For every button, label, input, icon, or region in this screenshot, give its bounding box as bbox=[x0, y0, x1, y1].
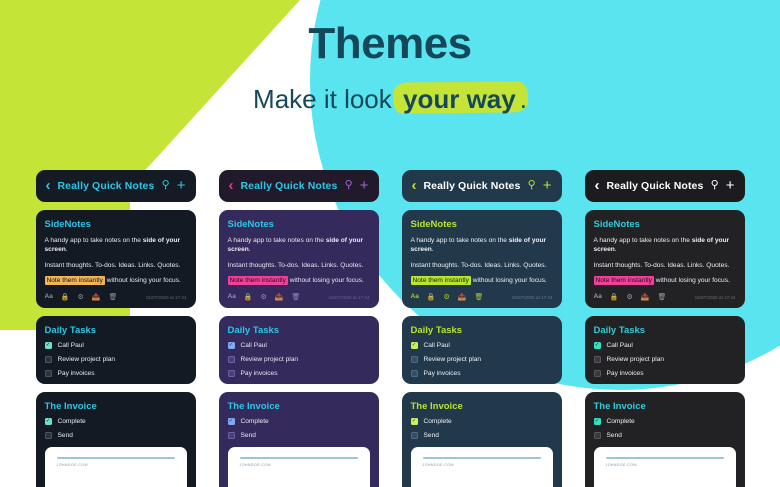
gear-icon[interactable]: ⚙ bbox=[444, 294, 450, 301]
lock-icon[interactable]: 🔒 bbox=[427, 294, 436, 301]
page-title: Themes bbox=[0, 22, 780, 66]
invoice-card-heading: The Invoice bbox=[594, 401, 736, 412]
gear-icon[interactable]: ⚙ bbox=[78, 294, 84, 301]
form-rule bbox=[240, 457, 358, 459]
chevron-left-icon[interactable]: ‹ bbox=[595, 178, 600, 193]
invoice-card-list: ✓CompleteSend bbox=[594, 418, 736, 439]
lock-icon[interactable]: 🔒 bbox=[61, 294, 70, 301]
form-rule bbox=[57, 457, 175, 459]
checklist-item-label: Complete bbox=[241, 418, 269, 425]
note-line-2: Instant thoughts. To-dos. Ideas. Links. … bbox=[45, 261, 187, 271]
note-timestamp: 15/07/2020 at 17:44 bbox=[329, 295, 370, 300]
checklist-item[interactable]: Send bbox=[594, 432, 736, 439]
checklist-item[interactable]: Pay invoices bbox=[594, 370, 736, 377]
chevron-left-icon[interactable]: ‹ bbox=[412, 178, 417, 193]
note-line-1: A handy app to take notes on the side of… bbox=[45, 236, 187, 255]
checkbox-checked-icon[interactable]: ✓ bbox=[228, 418, 235, 425]
note-timestamp: 15/07/2020 at 17:44 bbox=[695, 295, 736, 300]
checklist-item-label: Call Paul bbox=[58, 342, 84, 349]
plus-icon[interactable]: + bbox=[360, 178, 369, 193]
app-title: Really Quick Notes bbox=[58, 180, 155, 192]
search-icon[interactable]: ⚲ bbox=[528, 180, 536, 191]
checkbox-icon[interactable] bbox=[45, 356, 52, 363]
theme-mockup-charcoal-teal: ‹Really Quick Notes⚲+SideNotesA handy ap… bbox=[585, 170, 745, 487]
checklist-item[interactable]: Send bbox=[45, 432, 187, 439]
app-title: Really Quick Notes bbox=[607, 180, 704, 192]
checklist-item[interactable]: Review project plan bbox=[594, 356, 736, 363]
gear-icon[interactable]: ⚙ bbox=[261, 294, 267, 301]
note-highlight: Note them instantly bbox=[411, 276, 471, 285]
app-topbar: ‹Really Quick Notes⚲+ bbox=[219, 170, 379, 202]
checklist-item-label: Pay invoices bbox=[607, 370, 644, 377]
plus-icon[interactable]: + bbox=[726, 178, 735, 193]
invoice-form-preview[interactable]: JOHNDOE.COM bbox=[228, 447, 370, 487]
tasks-card[interactable]: Daily Tasks✓Call PaulReview project plan… bbox=[36, 316, 196, 384]
checkbox-icon[interactable] bbox=[411, 370, 418, 377]
invoice-card[interactable]: The Invoice✓CompleteSendJOHNDOE.COM bbox=[36, 392, 196, 487]
note-card-heading: SideNotes bbox=[228, 219, 370, 230]
checklist-item-label: Call Paul bbox=[607, 342, 633, 349]
note-line-1: A handy app to take notes on the side of… bbox=[594, 236, 736, 255]
invoice-card[interactable]: The Invoice✓CompleteSendJOHNDOE.COM bbox=[585, 392, 745, 487]
invoice-card-list: ✓CompleteSend bbox=[411, 418, 553, 439]
tasks-card-list: ✓Call PaulReview project planPay invoice… bbox=[45, 342, 187, 377]
theme-mockup-grid: ‹Really Quick Notes⚲+SideNotesA handy ap… bbox=[0, 170, 780, 487]
subtitle-plain: Make it look bbox=[253, 84, 399, 114]
checklist-item-label: Send bbox=[241, 432, 256, 439]
note-toolbar: Aa🔒⚙📤🗑15/07/2020 at 17:44 bbox=[45, 294, 187, 301]
checklist-item[interactable]: ✓Complete bbox=[45, 418, 187, 425]
note-line-2: Instant thoughts. To-dos. Ideas. Links. … bbox=[594, 261, 736, 271]
share-icon[interactable]: 📤 bbox=[275, 294, 284, 301]
checklist-item-label: Send bbox=[607, 432, 622, 439]
note-line-2: Instant thoughts. To-dos. Ideas. Links. … bbox=[411, 261, 553, 271]
lock-icon[interactable]: 🔒 bbox=[244, 294, 253, 301]
checklist-item-label: Review project plan bbox=[241, 356, 299, 363]
checkbox-icon[interactable] bbox=[411, 432, 418, 439]
tasks-card-heading: Daily Tasks bbox=[594, 325, 736, 336]
checkbox-icon[interactable] bbox=[228, 370, 235, 377]
note-card[interactable]: SideNotesA handy app to take notes on th… bbox=[219, 210, 379, 308]
checklist-item[interactable]: ✓Complete bbox=[411, 418, 553, 425]
invoice-card[interactable]: The Invoice✓CompleteSendJOHNDOE.COM bbox=[402, 392, 562, 487]
note-timestamp: 15/07/2020 at 17:44 bbox=[512, 295, 553, 300]
checkbox-checked-icon[interactable]: ✓ bbox=[594, 342, 601, 349]
checklist-item[interactable]: Pay invoices bbox=[45, 370, 187, 377]
checklist-item[interactable]: Send bbox=[228, 432, 370, 439]
trash-icon[interactable]: 🗑 bbox=[658, 294, 667, 301]
invoice-card[interactable]: The Invoice✓CompleteSendJOHNDOE.COM bbox=[219, 392, 379, 487]
note-card[interactable]: SideNotesA handy app to take notes on th… bbox=[36, 210, 196, 308]
text-format-icon[interactable]: Aa bbox=[228, 294, 236, 301]
checkbox-checked-icon[interactable]: ✓ bbox=[411, 342, 418, 349]
checklist-item-label: Complete bbox=[607, 418, 635, 425]
form-rule bbox=[423, 457, 541, 459]
poster-stage: Themes Make it look your way. ‹Really Qu… bbox=[0, 0, 780, 487]
note-toolbar: Aa🔒⚙📤🗑15/07/2020 at 17:44 bbox=[411, 294, 553, 301]
text-format-icon[interactable]: Aa bbox=[45, 294, 53, 301]
tasks-card-heading: Daily Tasks bbox=[228, 325, 370, 336]
subtitle-highlight: your way bbox=[399, 84, 520, 114]
gear-icon[interactable]: ⚙ bbox=[627, 294, 633, 301]
note-card-heading: SideNotes bbox=[411, 219, 553, 230]
invoice-card-list: ✓CompleteSend bbox=[45, 418, 187, 439]
checkbox-icon[interactable] bbox=[45, 370, 52, 377]
trash-icon[interactable]: 🗑 bbox=[109, 294, 118, 301]
headline-block: Themes Make it look your way. bbox=[0, 22, 780, 115]
checklist-item-label: Review project plan bbox=[58, 356, 116, 363]
checklist-item[interactable]: ✓Call Paul bbox=[228, 342, 370, 349]
form-domain-text: JOHNDOE.COM bbox=[423, 463, 541, 467]
checklist-item-label: Pay invoices bbox=[58, 370, 95, 377]
chevron-left-icon[interactable]: ‹ bbox=[229, 178, 234, 193]
note-toolbar: Aa🔒⚙📤🗑15/07/2020 at 17:44 bbox=[594, 294, 736, 301]
checklist-item-label: Pay invoices bbox=[241, 370, 278, 377]
checkbox-icon[interactable] bbox=[594, 356, 601, 363]
trash-icon[interactable]: 🗑 bbox=[475, 294, 484, 301]
invoice-form-preview[interactable]: JOHNDOE.COM bbox=[45, 447, 187, 487]
note-highlight: Note them instantly bbox=[594, 276, 654, 285]
checkbox-icon[interactable] bbox=[411, 356, 418, 363]
share-icon[interactable]: 📤 bbox=[641, 294, 650, 301]
app-topbar: ‹Really Quick Notes⚲+ bbox=[36, 170, 196, 202]
invoice-card-heading: The Invoice bbox=[411, 401, 553, 412]
checklist-item-label: Call Paul bbox=[241, 342, 267, 349]
checklist-item-label: Review project plan bbox=[607, 356, 665, 363]
page-subtitle: Make it look your way. bbox=[253, 84, 527, 115]
search-icon[interactable]: ⚲ bbox=[345, 180, 353, 191]
checkbox-icon[interactable] bbox=[594, 370, 601, 377]
note-line-3: Note them instantly without losing your … bbox=[228, 276, 370, 286]
search-icon[interactable]: ⚲ bbox=[711, 180, 719, 191]
checklist-item[interactable]: Review project plan bbox=[45, 356, 187, 363]
checklist-item[interactable]: Review project plan bbox=[411, 356, 553, 363]
checklist-item[interactable]: Review project plan bbox=[228, 356, 370, 363]
chevron-left-icon[interactable]: ‹ bbox=[46, 178, 51, 193]
checklist-item[interactable]: ✓Call Paul bbox=[411, 342, 553, 349]
theme-mockup-midnight-cyan: ‹Really Quick Notes⚲+SideNotesA handy ap… bbox=[36, 170, 196, 487]
text-format-icon[interactable]: Aa bbox=[411, 294, 419, 301]
checklist-item[interactable]: Pay invoices bbox=[228, 370, 370, 377]
tasks-card-heading: Daily Tasks bbox=[45, 325, 187, 336]
checkbox-icon[interactable] bbox=[228, 432, 235, 439]
subtitle-dot: . bbox=[520, 84, 527, 114]
note-card[interactable]: SideNotesA handy app to take notes on th… bbox=[585, 210, 745, 308]
share-icon[interactable]: 📤 bbox=[458, 294, 467, 301]
checkbox-checked-icon[interactable]: ✓ bbox=[45, 342, 52, 349]
theme-mockup-navy-lime: ‹Really Quick Notes⚲+SideNotesA handy ap… bbox=[402, 170, 562, 487]
checklist-item[interactable]: Send bbox=[411, 432, 553, 439]
note-line-2: Instant thoughts. To-dos. Ideas. Links. … bbox=[228, 261, 370, 271]
form-domain-text: JOHNDOE.COM bbox=[57, 463, 175, 467]
plus-icon[interactable]: + bbox=[543, 178, 552, 193]
checkbox-icon[interactable] bbox=[228, 356, 235, 363]
checkbox-checked-icon[interactable]: ✓ bbox=[594, 418, 601, 425]
invoice-form-preview[interactable]: JOHNDOE.COM bbox=[594, 447, 736, 487]
note-line-1: A handy app to take notes on the side of… bbox=[411, 236, 553, 255]
note-highlight: Note them instantly bbox=[45, 276, 105, 285]
tasks-card-list: ✓Call PaulReview project planPay invoice… bbox=[411, 342, 553, 377]
note-timestamp: 15/07/2020 at 17:44 bbox=[146, 295, 187, 300]
checklist-item-label: Send bbox=[58, 432, 73, 439]
checklist-item-label: Complete bbox=[424, 418, 452, 425]
note-card-heading: SideNotes bbox=[45, 219, 187, 230]
note-line-3: Note them instantly without losing your … bbox=[45, 276, 187, 286]
checklist-item-label: Call Paul bbox=[424, 342, 450, 349]
checklist-item[interactable]: ✓Complete bbox=[594, 418, 736, 425]
tasks-card[interactable]: Daily Tasks✓Call PaulReview project plan… bbox=[402, 316, 562, 384]
checkbox-icon[interactable] bbox=[594, 432, 601, 439]
search-icon[interactable]: ⚲ bbox=[162, 180, 170, 191]
checklist-item-label: Complete bbox=[58, 418, 86, 425]
checkbox-checked-icon[interactable]: ✓ bbox=[228, 342, 235, 349]
form-rule bbox=[606, 457, 724, 459]
note-card-heading: SideNotes bbox=[594, 219, 736, 230]
theme-mockup-deep-purple: ‹Really Quick Notes⚲+SideNotesA handy ap… bbox=[219, 170, 379, 487]
checklist-item[interactable]: Pay invoices bbox=[411, 370, 553, 377]
checklist-item[interactable]: ✓Complete bbox=[228, 418, 370, 425]
form-domain-text: JOHNDOE.COM bbox=[606, 463, 724, 467]
app-title: Really Quick Notes bbox=[424, 180, 521, 192]
plus-icon[interactable]: + bbox=[177, 178, 186, 193]
checkbox-checked-icon[interactable]: ✓ bbox=[411, 418, 418, 425]
tasks-card-list: ✓Call PaulReview project planPay invoice… bbox=[594, 342, 736, 377]
note-line-1: A handy app to take notes on the side of… bbox=[228, 236, 370, 255]
checklist-item-label: Send bbox=[424, 432, 439, 439]
checklist-item-label: Review project plan bbox=[424, 356, 482, 363]
app-topbar: ‹Really Quick Notes⚲+ bbox=[585, 170, 745, 202]
checklist-item[interactable]: ✓Call Paul bbox=[45, 342, 187, 349]
app-topbar: ‹Really Quick Notes⚲+ bbox=[402, 170, 562, 202]
note-line-3: Note them instantly without losing your … bbox=[594, 276, 736, 286]
tasks-card-list: ✓Call PaulReview project planPay invoice… bbox=[228, 342, 370, 377]
note-highlight: Note them instantly bbox=[228, 276, 288, 285]
share-icon[interactable]: 📤 bbox=[92, 294, 101, 301]
invoice-card-list: ✓CompleteSend bbox=[228, 418, 370, 439]
trash-icon[interactable]: 🗑 bbox=[292, 294, 301, 301]
app-title: Really Quick Notes bbox=[241, 180, 338, 192]
form-domain-text: JOHNDOE.COM bbox=[240, 463, 358, 467]
invoice-card-heading: The Invoice bbox=[228, 401, 370, 412]
note-toolbar: Aa🔒⚙📤🗑15/07/2020 at 17:44 bbox=[228, 294, 370, 301]
text-format-icon[interactable]: Aa bbox=[594, 294, 602, 301]
tasks-card-heading: Daily Tasks bbox=[411, 325, 553, 336]
checkbox-checked-icon[interactable]: ✓ bbox=[45, 418, 52, 425]
note-card[interactable]: SideNotesA handy app to take notes on th… bbox=[402, 210, 562, 308]
invoice-card-heading: The Invoice bbox=[45, 401, 187, 412]
checkbox-icon[interactable] bbox=[45, 432, 52, 439]
tasks-card[interactable]: Daily Tasks✓Call PaulReview project plan… bbox=[585, 316, 745, 384]
invoice-form-preview[interactable]: JOHNDOE.COM bbox=[411, 447, 553, 487]
tasks-card[interactable]: Daily Tasks✓Call PaulReview project plan… bbox=[219, 316, 379, 384]
note-line-3: Note them instantly without losing your … bbox=[411, 276, 553, 286]
checklist-item-label: Pay invoices bbox=[424, 370, 461, 377]
lock-icon[interactable]: 🔒 bbox=[610, 294, 619, 301]
checklist-item[interactable]: ✓Call Paul bbox=[594, 342, 736, 349]
